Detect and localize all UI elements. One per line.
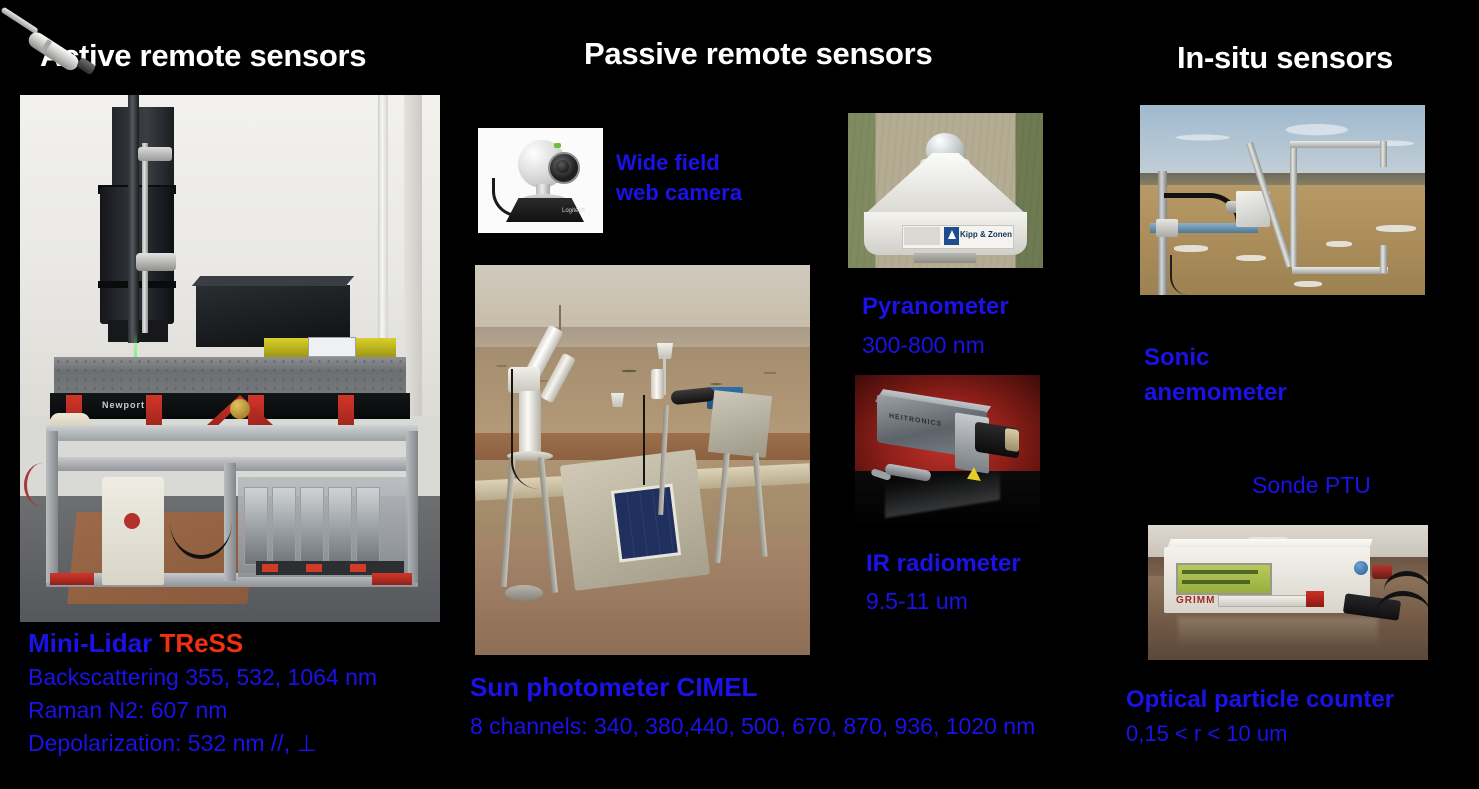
lidar-title-accent: TReSS bbox=[159, 628, 243, 658]
ir-radiometer-title: IR radiometer bbox=[866, 550, 1021, 578]
kipp-zonen-triangle-icon bbox=[948, 230, 956, 239]
ir-radiometer-spec: 9.5-11 um bbox=[866, 588, 968, 615]
anemometer-lower-arm bbox=[1292, 267, 1388, 274]
rack-module-3 bbox=[300, 487, 324, 565]
led-3 bbox=[350, 564, 366, 572]
cable-bundle-left bbox=[511, 369, 539, 489]
rod-clamp-lower bbox=[136, 253, 176, 271]
column-title-passive-remote-sensors: Passive remote sensors bbox=[584, 36, 932, 72]
wide-field-web-camera-photo: Logitech bbox=[478, 128, 603, 233]
logitech-brand-label: Logitech bbox=[562, 208, 585, 214]
lidar-spec-backscattering: Backscattering 355, 532, 1064 nm bbox=[28, 664, 377, 691]
sonic-anemometer-label-line2: anemometer bbox=[1144, 379, 1287, 407]
distant-mast bbox=[559, 305, 561, 331]
red-indicator-block bbox=[1306, 591, 1324, 607]
sample-slot bbox=[1218, 595, 1308, 607]
anemometer-upper-drop bbox=[1380, 141, 1387, 167]
newport-brand-label: Newport bbox=[102, 400, 145, 410]
tripod-foot-pad bbox=[505, 585, 543, 601]
cimel-title: Sun photometer CIMEL bbox=[470, 672, 757, 703]
pyranometer-spec: 300-800 nm bbox=[862, 332, 985, 359]
mounting-foot bbox=[914, 253, 976, 263]
cart-foot-left bbox=[50, 573, 94, 585]
cart-frame-top bbox=[46, 425, 418, 441]
snow-patch-3 bbox=[1326, 241, 1352, 247]
alignment-rod bbox=[142, 143, 148, 333]
cart-leg-left bbox=[46, 431, 58, 583]
rod-clamp-upper bbox=[138, 147, 172, 161]
rack-module-5 bbox=[356, 487, 380, 565]
lidar-spec-raman: Raman N2: 607 nm bbox=[28, 697, 227, 724]
cart-foot-right bbox=[372, 573, 412, 585]
camera-lens-glass bbox=[556, 160, 569, 173]
kipp-zonen-brand-label: Kipp & Zonen bbox=[960, 230, 1012, 239]
lidar-spec-depolarization: Depolarization: 532 nm //, ⊥ bbox=[28, 730, 317, 757]
rack-module-2 bbox=[272, 487, 296, 565]
lcd-display bbox=[1176, 563, 1272, 595]
cable-bundle-right bbox=[643, 395, 667, 485]
sonde-ptu-label: Sonde PTU bbox=[1252, 472, 1371, 499]
small-gauge bbox=[611, 393, 624, 407]
brass-ball-joint bbox=[230, 399, 250, 419]
snow-patch-1 bbox=[1174, 245, 1208, 252]
anemometer-upper-arm bbox=[1290, 141, 1386, 148]
column-title-in-situ-sensors: In-situ sensors bbox=[1177, 40, 1393, 76]
lcd-text-line1 bbox=[1182, 570, 1258, 574]
mini-lidar-photo: Newport bbox=[20, 95, 440, 622]
breadboard-hole-grid bbox=[54, 357, 406, 393]
rack-module-4 bbox=[328, 487, 352, 565]
solar-panel bbox=[611, 483, 681, 562]
sun-photometer-cimel-photo bbox=[475, 265, 810, 655]
ir-radiometer-photo: HEITRONICS bbox=[855, 375, 1040, 530]
anemometer-lower-drop bbox=[1380, 245, 1387, 273]
black-hose bbox=[170, 485, 232, 559]
sonic-anemometer-photo bbox=[1140, 105, 1425, 295]
led-1 bbox=[262, 564, 278, 572]
opc-title: Optical particle counter bbox=[1126, 686, 1394, 714]
optical-particle-counter-photo: GRIMM bbox=[1148, 525, 1428, 660]
pyranometer-title: Pyranometer bbox=[862, 293, 1009, 321]
sonic-anemometer-label-line1: Sonic bbox=[1144, 344, 1209, 372]
inlet-knob bbox=[1354, 561, 1368, 575]
keypad[interactable] bbox=[1298, 559, 1354, 593]
probe-stem bbox=[0, 6, 38, 34]
secondary-enclosure bbox=[708, 390, 772, 458]
led-2 bbox=[306, 564, 322, 572]
chiller-unit bbox=[102, 477, 164, 585]
anemometer-vertical-strut bbox=[1290, 147, 1297, 267]
lidar-title: Mini-Lidar TReSS bbox=[28, 628, 243, 659]
webcam-label-line1: Wide field bbox=[616, 150, 720, 176]
vertical-rail bbox=[128, 95, 139, 343]
pyranometer-photo: Kipp & Zonen bbox=[848, 113, 1043, 268]
power-cable-red bbox=[24, 463, 61, 507]
cimel-spec: 8 channels: 340, 380,440, 500, 670, 870,… bbox=[470, 713, 1035, 740]
desk-reflection bbox=[1178, 617, 1378, 647]
lcd-text-line2 bbox=[1182, 580, 1250, 584]
laser-label-tag bbox=[308, 337, 356, 357]
rack-module-1 bbox=[244, 487, 268, 565]
opc-spec: 0,15 < r < 10 um bbox=[1126, 721, 1287, 747]
snow-patch-2 bbox=[1236, 255, 1266, 261]
camera-status-led bbox=[554, 143, 561, 148]
webcam-label-line2: web camera bbox=[616, 180, 742, 206]
chiller-emergency-button bbox=[124, 513, 140, 529]
nameplate-blank-field bbox=[904, 227, 940, 245]
grimm-brand-label: GRIMM bbox=[1176, 595, 1215, 606]
radiometer-lens-glass bbox=[1005, 428, 1019, 452]
connector-cable-2 bbox=[1376, 591, 1428, 636]
wall-edge bbox=[404, 95, 422, 416]
lidar-title-primary: Mini-Lidar bbox=[28, 628, 159, 658]
snow-patch-5 bbox=[1294, 281, 1322, 287]
